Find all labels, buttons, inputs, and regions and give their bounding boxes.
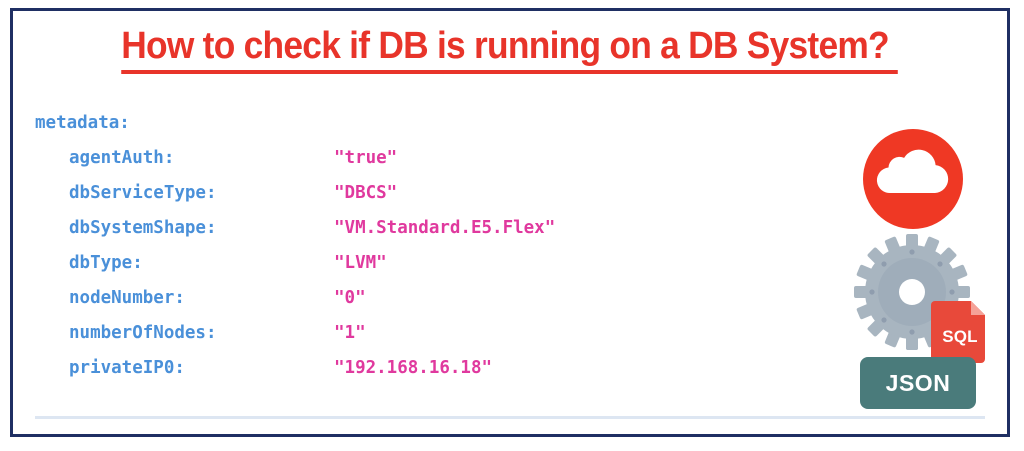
code-row-node-number: nodeNumber: "0" [31,281,851,316]
page-title: How to check if DB is running on a DB Sy… [122,27,899,74]
code-root-key: metadata: [31,106,851,141]
icon-stack: SQL JSON [853,129,993,414]
code-row-number-of-nodes: numberOfNodes: "1" [31,316,851,351]
sql-file-icon: SQL [931,297,989,363]
code-value: "DBCS" [334,176,397,211]
cloud-icon [863,129,963,229]
code-row-agent-auth: agentAuth: "true" [31,141,851,176]
metadata-code-block: metadata: agentAuth: "true" dbServiceTyp… [31,106,851,386]
code-value: "true" [334,141,397,176]
bottom-separator [35,416,985,419]
code-row-db-system-shape: dbSystemShape: "VM.Standard.E5.Flex" [31,211,851,246]
code-row-db-type: dbType: "LVM" [31,246,851,281]
code-value: "192.168.16.18" [334,351,492,386]
code-value: "0" [334,281,366,316]
code-row-db-service-type: dbServiceType: "DBCS" [31,176,851,211]
code-value: "1" [334,316,366,351]
slide-frame: How to check if DB is running on a DB Sy… [10,8,1010,437]
code-key: numberOfNodes: [69,316,334,351]
code-key: agentAuth: [69,141,334,176]
code-key: dbSystemShape: [69,211,334,246]
code-key: dbServiceType: [69,176,334,211]
code-key: dbType: [69,246,334,281]
json-badge-label: JSON [886,370,951,397]
page-title-container: How to check if DB is running on a DB Sy… [13,27,1007,74]
code-key: privateIP0: [69,351,334,386]
code-row-private-ip0: privateIP0: "192.168.16.18" [31,351,851,386]
sql-file-label: SQL [931,297,989,363]
code-value: "LVM" [334,246,387,281]
code-value: "VM.Standard.E5.Flex" [334,211,555,246]
code-key: nodeNumber: [69,281,334,316]
json-badge: JSON [860,357,976,409]
